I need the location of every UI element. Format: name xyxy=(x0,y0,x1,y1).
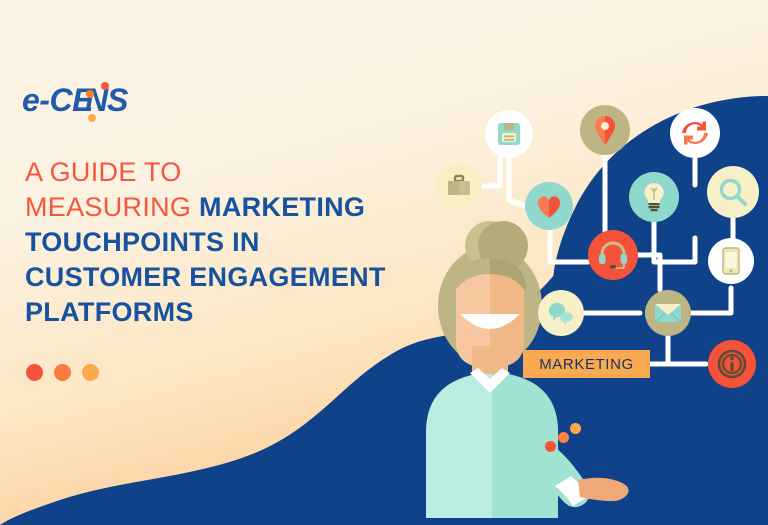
hand-dot-2 xyxy=(558,432,569,443)
sync-refresh-icon[interactable] xyxy=(670,108,720,158)
envelope-icon[interactable] xyxy=(645,290,691,336)
lightbulb-icon[interactable] xyxy=(629,172,679,222)
briefcase-icon[interactable] xyxy=(436,163,482,209)
mobile-phone-icon[interactable] xyxy=(708,238,754,284)
chat-bubble-icon[interactable] xyxy=(538,290,584,336)
marketing-tag-label: MARKETING xyxy=(539,356,634,373)
document-save-icon[interactable] xyxy=(485,110,533,158)
banner-root: e-CE N S e-CENS A GUIDE TO MEASURING MAR… xyxy=(0,0,768,525)
connector-lines xyxy=(0,0,768,525)
search-icon[interactable] xyxy=(707,166,759,218)
headset-icon[interactable] xyxy=(588,230,638,280)
location-pin-icon[interactable] xyxy=(580,105,630,155)
heart-icon[interactable] xyxy=(525,182,573,230)
marketing-tag[interactable]: MARKETING xyxy=(523,350,650,378)
hand-dot-3 xyxy=(545,441,556,452)
hand-dot-1 xyxy=(570,423,581,434)
info-icon[interactable] xyxy=(708,340,756,388)
